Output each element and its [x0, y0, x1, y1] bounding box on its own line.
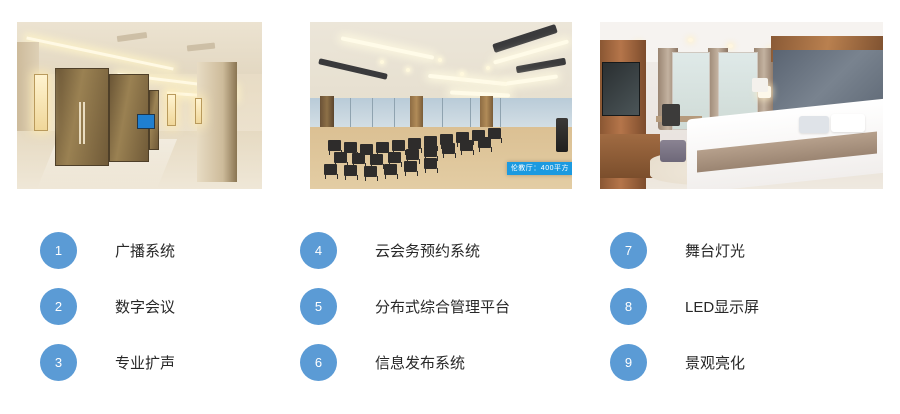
feature-number-badge: 6: [300, 344, 337, 381]
feature-item-5[interactable]: 5 分布式综合管理平台: [300, 286, 510, 326]
feature-item-1[interactable]: 1 广播系统: [40, 230, 175, 270]
photo-guest-room[interactable]: [600, 22, 883, 189]
feature-item-4[interactable]: 4 云会务预约系统: [300, 230, 480, 270]
feature-item-7[interactable]: 7 舞台灯光: [610, 230, 745, 270]
photo-elevator-lobby[interactable]: [17, 22, 262, 189]
chair: [442, 143, 455, 154]
chair: [404, 161, 417, 172]
chair: [376, 142, 389, 153]
chair: [392, 140, 405, 151]
slide-root: 伦教厅：400平方: [0, 0, 900, 414]
feature-number-badge: 9: [610, 344, 647, 381]
feature-item-2[interactable]: 2 数字会议: [40, 286, 175, 326]
feature-label: 数字会议: [115, 296, 175, 317]
door-handle: [79, 102, 81, 144]
feature-number-badge: 8: [610, 288, 647, 325]
chair: [324, 164, 337, 175]
downlight: [728, 44, 733, 48]
window-mullion: [350, 98, 351, 130]
feature-label: 景观亮化: [685, 352, 745, 373]
chair: [364, 166, 377, 177]
information-display: [137, 114, 155, 129]
feature-item-8[interactable]: 8 LED显示屏: [610, 286, 759, 326]
window-mullion: [470, 98, 471, 130]
chair: [406, 149, 419, 160]
feature-label: LED显示屏: [685, 296, 759, 317]
marble-pillar: [197, 62, 237, 182]
chair: [424, 158, 437, 169]
hall-scene-art: 伦教厅：400平方: [310, 22, 572, 189]
window-mullion: [394, 98, 395, 130]
venue-caption-tag: 伦教厅：400平方: [507, 162, 572, 175]
desk-chair: [662, 104, 680, 126]
downlight: [486, 66, 490, 70]
downlight: [438, 58, 442, 62]
window-mullion: [372, 98, 373, 130]
chair: [334, 152, 347, 163]
chair: [328, 140, 341, 151]
elevator-door: [55, 68, 109, 166]
chair: [408, 138, 421, 149]
window-mullion: [442, 98, 443, 130]
window-mullion: [500, 98, 501, 130]
downlight: [406, 68, 410, 72]
feature-list: 1 广播系统 2 数字会议 3 专业扩声 4 云会务预约系统 5 分布式综合管理…: [0, 200, 900, 414]
photo-row: 伦教厅：400平方: [0, 0, 900, 200]
guestroom-scene-art: [600, 22, 883, 189]
feature-column-2: 4 云会务预约系统 5 分布式综合管理平台 6 信息发布系统: [300, 200, 590, 414]
door-handle: [83, 102, 85, 144]
feature-item-6[interactable]: 6 信息发布系统: [300, 342, 465, 382]
pillow: [799, 116, 829, 133]
chair: [424, 146, 437, 157]
downlight: [460, 72, 464, 76]
wall-sconce: [167, 94, 176, 126]
chair: [384, 164, 397, 175]
feature-label: 信息发布系统: [375, 352, 465, 373]
chair: [388, 152, 401, 163]
downlight: [380, 60, 384, 64]
loudspeaker: [556, 118, 568, 152]
wall-sconce: [34, 74, 48, 131]
chair: [370, 154, 383, 165]
chair: [460, 140, 473, 151]
feature-number-badge: 7: [610, 232, 647, 269]
feature-number-badge: 3: [40, 344, 77, 381]
wall-sconce: [195, 98, 202, 124]
feature-column-3: 7 舞台灯光 8 LED显示屏 9 景观亮化: [610, 200, 900, 414]
chair: [352, 153, 365, 164]
television: [602, 62, 640, 116]
feature-item-9[interactable]: 9 景观亮化: [610, 342, 745, 382]
feature-label: 分布式综合管理平台: [375, 296, 510, 317]
feature-column-1: 1 广播系统 2 数字会议 3 专业扩声: [40, 200, 330, 414]
feature-number-badge: 1: [40, 232, 77, 269]
floor-lamp: [752, 78, 768, 92]
lobby-scene-art: [17, 22, 262, 189]
feature-label: 舞台灯光: [685, 240, 745, 261]
feature-number-badge: 4: [300, 232, 337, 269]
pillow: [831, 114, 865, 132]
ottoman: [660, 140, 686, 162]
feature-number-badge: 5: [300, 288, 337, 325]
feature-label: 云会务预约系统: [375, 240, 480, 261]
feature-number-badge: 2: [40, 288, 77, 325]
feature-label: 专业扩声: [115, 352, 175, 373]
downlight: [688, 38, 693, 42]
chair: [344, 165, 357, 176]
photo-conference-hall[interactable]: 伦教厅：400平方: [310, 22, 572, 189]
feature-item-3[interactable]: 3 专业扩声: [40, 342, 175, 382]
chair: [478, 137, 491, 148]
feature-label: 广播系统: [115, 240, 175, 261]
